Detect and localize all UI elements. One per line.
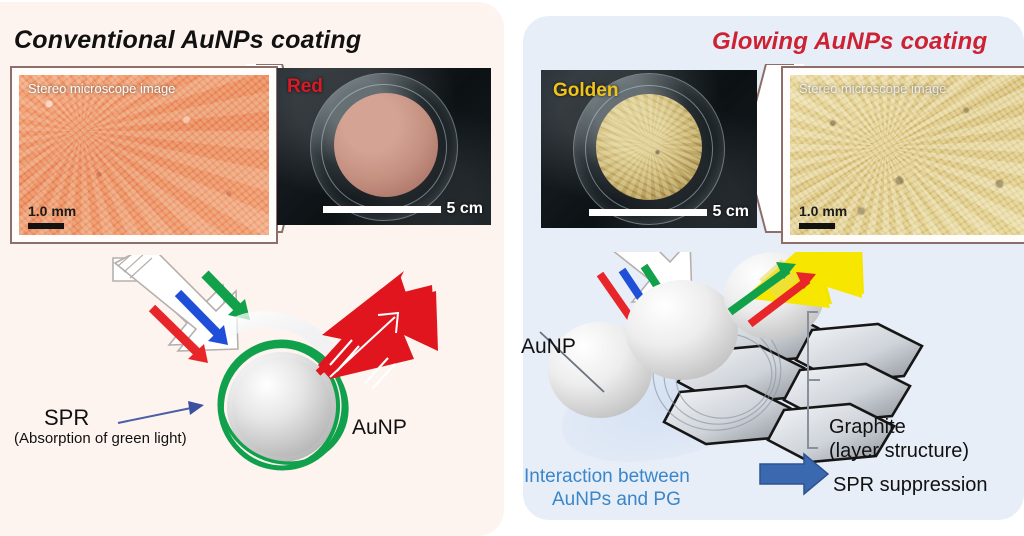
aunp-label-conventional: AuNP [352,416,407,440]
petri-dish-glowing: Golden 5 cm [541,70,757,228]
petri-dish-conventional-scale: 5 cm [323,200,483,218]
aunp-sphere-core [232,357,332,457]
interaction-label-line2: AuNPs and PG [552,489,681,511]
color-label-golden: Golden [553,80,618,102]
graphite-label-line1: Graphite [829,416,906,439]
scale-bar-icon [799,223,835,229]
diagram-conventional [0,255,512,495]
micrograph-glowing: Stereo microscope image 1.0 mm [781,66,1024,244]
coated-pellet-golden [596,94,702,200]
micrograph-conventional: Stereo microscope image 1.0 mm [10,66,278,244]
figure-canvas: Conventional AuNPs coating Stereo micros… [0,0,1024,536]
spr-pointer-arrow-icon [118,401,204,423]
aunp-label-glowing: AuNP [521,335,576,359]
petri-dish-conventional: Red 5 cm [277,68,491,225]
scale-bar-icon [28,223,64,229]
scale-bar-icon [589,209,707,216]
outgoing-red-arrow-icon [318,271,438,389]
spr-sublabel: (Absorption of green light) [14,430,187,447]
spr-suppression-label: SPR suppression [833,474,988,497]
micrograph-conventional-scale: 1.0 mm [28,204,76,229]
micrograph-conventional-scale-label: 1.0 mm [28,204,76,218]
scale-bar-icon [323,206,441,213]
micrograph-glowing-scale: 1.0 mm [799,204,847,229]
panel-conventional-title: Conventional AuNPs coating [14,26,361,55]
petri-dish-glowing-scale: 5 cm [589,203,749,221]
micrograph-glowing-scale-label: 1.0 mm [799,204,847,218]
panel-glowing-title: Glowing AuNPs coating [712,28,987,56]
interaction-label-line1: Interaction between [524,466,690,488]
color-label-red: Red [287,76,323,98]
micrograph-glowing-caption: Stereo microscope image [799,81,946,96]
diagram-glowing [512,252,1024,502]
spr-label: SPR [44,405,89,431]
petri-dish-conventional-scale-label: 5 cm [447,200,483,218]
coated-pellet-red [334,93,438,197]
petri-dish-glowing-scale-label: 5 cm [713,203,749,221]
graphite-label-line2: (layer structure) [829,440,969,463]
micrograph-conventional-caption: Stereo microscope image [28,81,175,96]
aunp-sphere-icon-2 [626,280,738,380]
